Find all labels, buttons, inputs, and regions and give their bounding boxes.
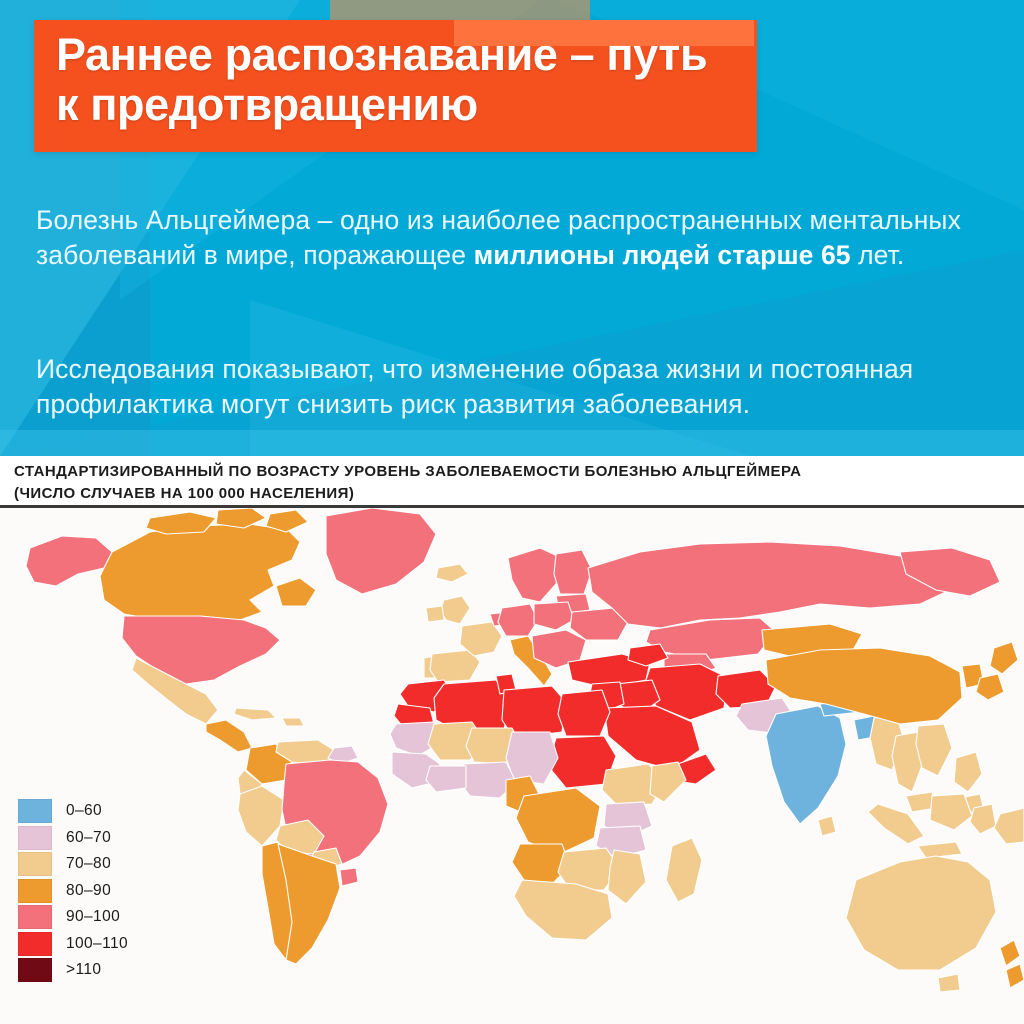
title-banner: Раннее распознавание – путь к предотвращ…	[34, 20, 757, 152]
map-region-tasmania[interactable]	[938, 974, 960, 992]
legend-label: 80–90	[66, 882, 111, 900]
legend-item[interactable]: 90–100	[18, 904, 168, 931]
map-region-ireland[interactable]	[426, 606, 444, 622]
legend-swatch	[18, 905, 52, 929]
legend-swatch	[18, 799, 52, 823]
map-region-central-america[interactable]	[206, 720, 252, 752]
legend-label: 70–80	[66, 855, 111, 873]
map-region-finland[interactable]	[554, 550, 592, 594]
map-region-australia[interactable]	[846, 856, 996, 970]
map-region-uruguay[interactable]	[340, 868, 358, 886]
map-region-germany[interactable]	[498, 604, 538, 636]
map-region-new-guinea[interactable]	[994, 808, 1024, 844]
map-region-borneo[interactable]	[930, 794, 972, 830]
map-region-chad[interactable]	[506, 732, 558, 784]
map-region-alaska[interactable]	[26, 536, 112, 586]
map-region-canada-labrador[interactable]	[276, 578, 316, 606]
map-region-egypt[interactable]	[558, 690, 610, 736]
map-region-new-zealand[interactable]	[1006, 964, 1024, 988]
map-region-canada-arctic[interactable]	[146, 512, 216, 534]
background-facet	[0, 430, 1024, 456]
map-region-cuba[interactable]	[234, 708, 276, 720]
legend-item[interactable]: >110	[18, 957, 168, 984]
map-region-sulawesi[interactable]	[970, 804, 996, 834]
legend-label: 0–60	[66, 802, 102, 820]
map-region-japan[interactable]	[976, 674, 1004, 700]
hero-panel: Раннее распознавание – путь к предотвращ…	[0, 0, 1024, 456]
map-region-new-zealand[interactable]	[1000, 940, 1020, 966]
legend-swatch	[18, 932, 52, 956]
legend-label: 90–100	[66, 908, 120, 926]
map-region-java[interactable]	[918, 842, 962, 858]
legend-item[interactable]: 60–70	[18, 825, 168, 852]
infographic-poster: Раннее распознавание – путь к предотвращ…	[0, 0, 1024, 1024]
map-region-somalia[interactable]	[650, 762, 686, 802]
legend-swatch	[18, 852, 52, 876]
map-region-poland[interactable]	[534, 602, 574, 630]
map-legend: 0–60 60–70 70–80 80–90 90–100 100–110	[18, 798, 168, 984]
legend-swatch	[18, 879, 52, 903]
legend-item[interactable]: 70–80	[18, 851, 168, 878]
legend-item[interactable]: 100–110	[18, 931, 168, 958]
map-region-hispaniola[interactable]	[282, 718, 304, 726]
map-region-canada[interactable]	[100, 524, 300, 620]
map-region-ghana-coast[interactable]	[426, 766, 466, 792]
map-region-madagascar[interactable]	[666, 838, 702, 902]
map-region-russia[interactable]	[588, 542, 950, 628]
legend-swatch	[18, 826, 52, 850]
map-region-iceland[interactable]	[436, 564, 468, 582]
legend-swatch	[18, 958, 52, 982]
intro-text-tail: лет.	[851, 240, 905, 270]
intro-paragraph: Болезнь Альцгеймера – одно из наиболее р…	[36, 203, 966, 273]
map-region-philippines[interactable]	[954, 752, 982, 792]
map-region-greenland[interactable]	[326, 508, 436, 594]
intro-text-bold: миллионы людей старше 65	[474, 240, 851, 270]
map-region-japan[interactable]	[990, 642, 1018, 674]
map-region-sri-lanka[interactable]	[818, 816, 836, 836]
world-map: 0–60 60–70 70–80 80–90 90–100 100–110	[0, 508, 1024, 1024]
map-region-mozambique[interactable]	[608, 850, 646, 904]
map-caption: СТАНДАРТИЗИРОВАННЫЙ ПО ВОЗРАСТУ УРОВЕНЬ …	[14, 461, 801, 505]
legend-label: >110	[66, 961, 101, 979]
map-caption-bar: СТАНДАРТИЗИРОВАННЫЙ ПО ВОЗРАСТУ УРОВЕНЬ …	[0, 456, 1024, 508]
legend-item[interactable]: 80–90	[18, 878, 168, 905]
legend-label: 100–110	[66, 935, 128, 953]
legend-item[interactable]: 0–60	[18, 798, 168, 825]
research-paragraph: Исследования показывают, что изменение о…	[36, 352, 966, 422]
legend-label: 60–70	[66, 829, 111, 847]
banner-highlight	[454, 20, 754, 46]
map-region-india[interactable]	[766, 706, 846, 824]
